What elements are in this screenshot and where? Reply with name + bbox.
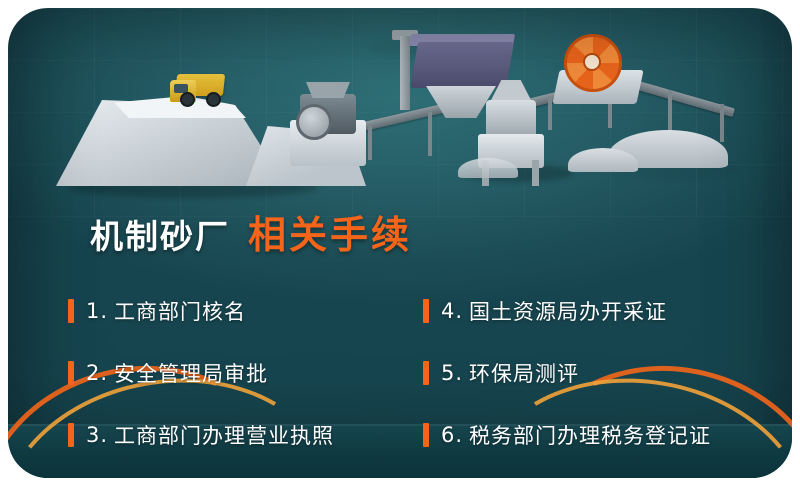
list-item-label: 工商部门核名 <box>114 296 246 326</box>
bullet-bar-icon <box>423 361 429 385</box>
list-item-index: 2. <box>86 361 108 385</box>
poster-canvas: 机制砂厂 相关手续 1. 工商部门核名 4. 国土资源局办开采证 2. 安全管理… <box>0 0 800 500</box>
list-item-label: 国土资源局办开采证 <box>469 296 667 326</box>
list-item-index: 5. <box>441 361 463 385</box>
bullet-bar-icon <box>68 361 74 385</box>
procedure-list: 1. 工商部门核名 4. 国土资源局办开采证 2. 安全管理局审批 5. 环保局… <box>68 280 758 466</box>
list-item-label: 安全管理局审批 <box>114 358 268 388</box>
list-item-label: 环保局测评 <box>469 358 579 388</box>
page-title: 机制砂厂 相关手续 <box>90 204 412 259</box>
list-item: 2. 安全管理局审批 <box>68 342 423 404</box>
bullet-bar-icon <box>423 299 429 323</box>
list-item-label: 税务部门办理税务登记证 <box>469 420 711 450</box>
list-item: 5. 环保局测评 <box>423 342 758 404</box>
list-item-index: 4. <box>441 299 463 323</box>
list-item-label: 工商部门办理营业执照 <box>114 420 334 450</box>
title-highlight: 相关手续 <box>248 204 412 259</box>
title-prefix: 机制砂厂 <box>90 210 230 258</box>
list-item: 6. 税务部门办理税务登记证 <box>423 404 758 466</box>
list-item: 4. 国土资源局办开采证 <box>423 280 758 342</box>
list-item-index: 1. <box>86 299 108 323</box>
list-item: 1. 工商部门核名 <box>68 280 423 342</box>
list-item-index: 3. <box>86 423 108 447</box>
bullet-bar-icon <box>68 299 74 323</box>
list-item-index: 6. <box>441 423 463 447</box>
bullet-bar-icon <box>68 423 74 447</box>
list-item: 3. 工商部门办理营业执照 <box>68 404 423 466</box>
poster-panel: 机制砂厂 相关手续 1. 工商部门核名 4. 国土资源局办开采证 2. 安全管理… <box>8 8 792 478</box>
bullet-bar-icon <box>423 423 429 447</box>
